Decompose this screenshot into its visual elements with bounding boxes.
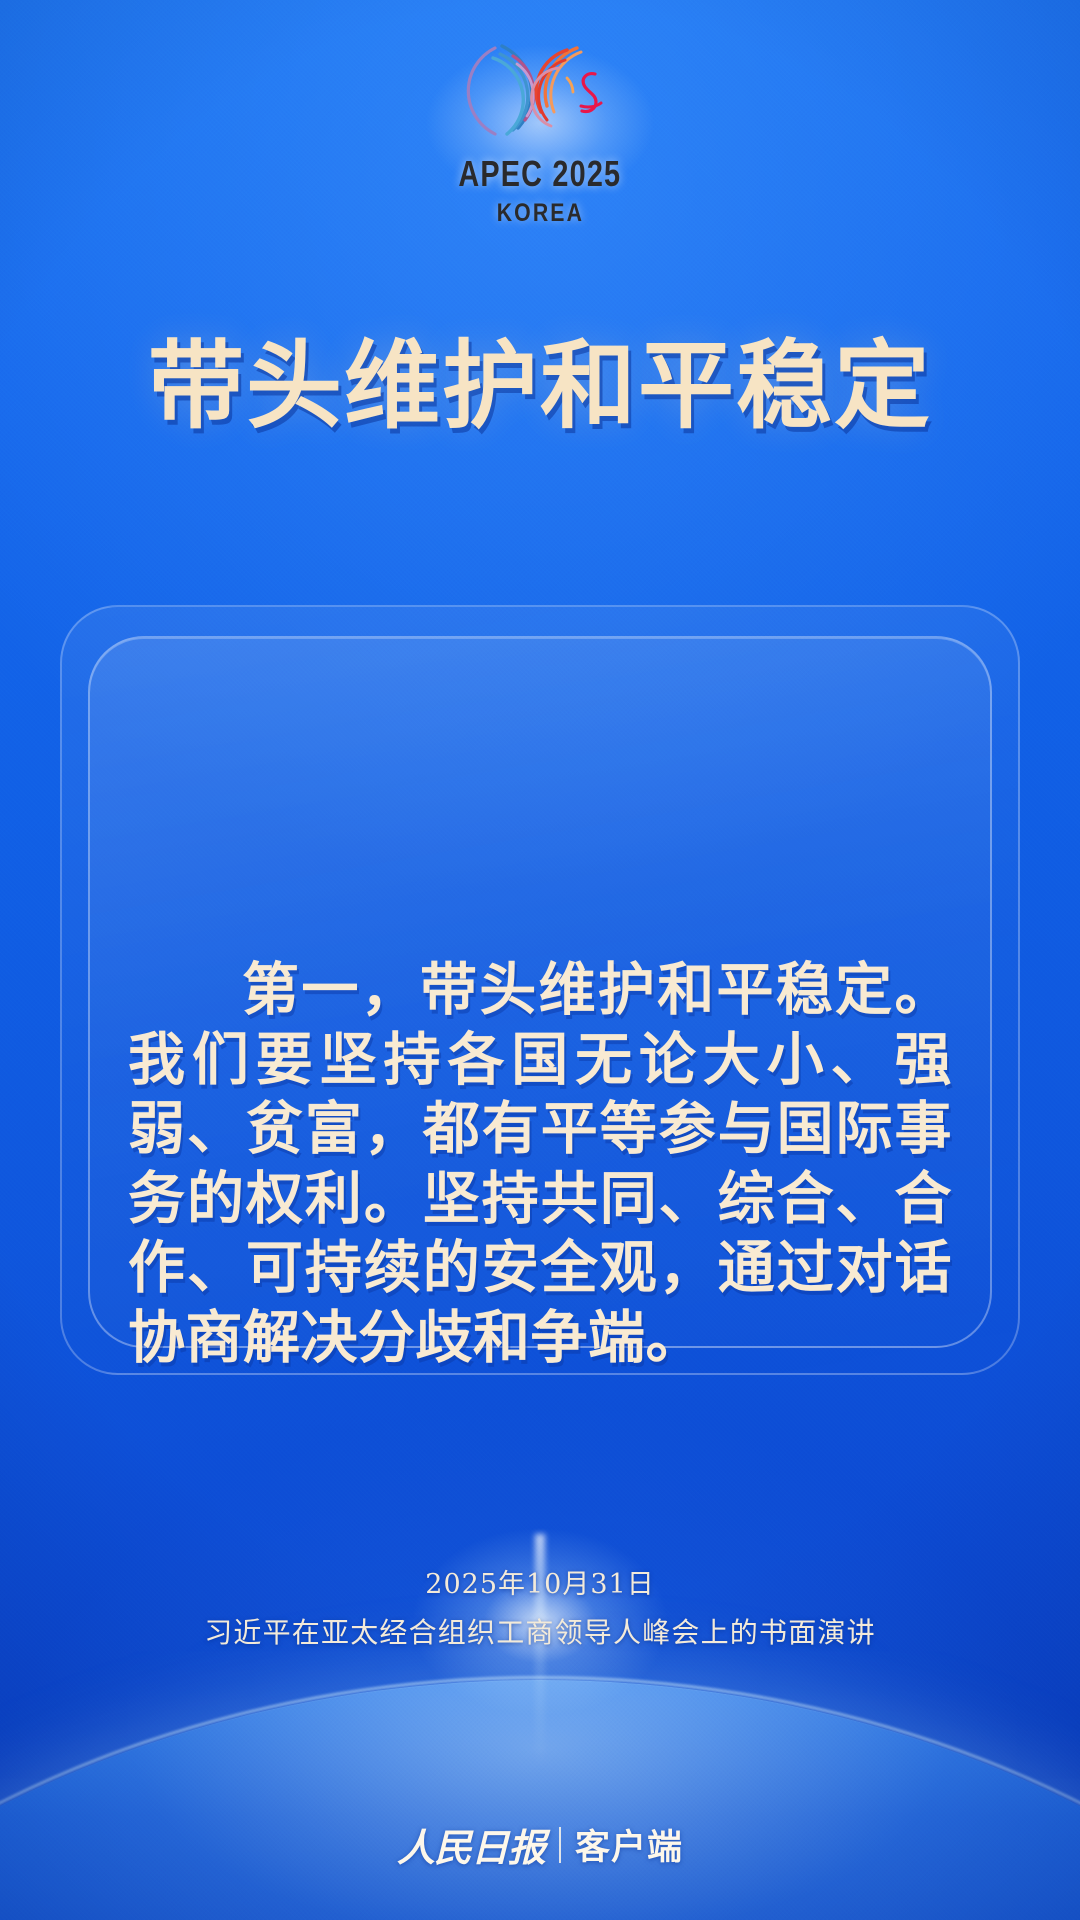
apec-wordmark-text: APEC 2025 xyxy=(459,153,622,195)
earth-horizon-rim xyxy=(0,1676,1080,1920)
quote-body-text: 第一，带头维护和平稳定。我们要坚持各国无论大小、强弱、贫富，都有平等参与国际事务… xyxy=(128,955,952,1372)
earth-horizon-globe xyxy=(0,1680,1080,1920)
apec-logo-block: APEC 2025 KOREA xyxy=(0,34,1080,228)
brand-divider xyxy=(559,1827,561,1863)
apec-country-text: KOREA xyxy=(496,199,583,228)
apec-emblem-icon xyxy=(455,34,625,149)
attribution-block: 2025年10月31日 习近平在亚太经合组织工商领导人峰会上的书面演讲 xyxy=(0,1562,1080,1651)
footer-brand-lockup: 人民日报 客户端 xyxy=(0,1817,1080,1872)
page-title: 带头维护和平稳定 xyxy=(0,336,1080,436)
peoples-daily-logo: 人民日报 xyxy=(397,1817,545,1872)
attribution-date: 2025年10月31日 xyxy=(0,1562,1080,1601)
attribution-source: 习近平在亚太经合组织工商领导人峰会上的书面演讲 xyxy=(0,1611,1080,1651)
poster-canvas: APEC 2025 KOREA 带头维护和平稳定 第一，带头维护和平稳定。我们要… xyxy=(0,0,1080,1920)
brand-app-label: 客户端 xyxy=(575,1819,683,1870)
